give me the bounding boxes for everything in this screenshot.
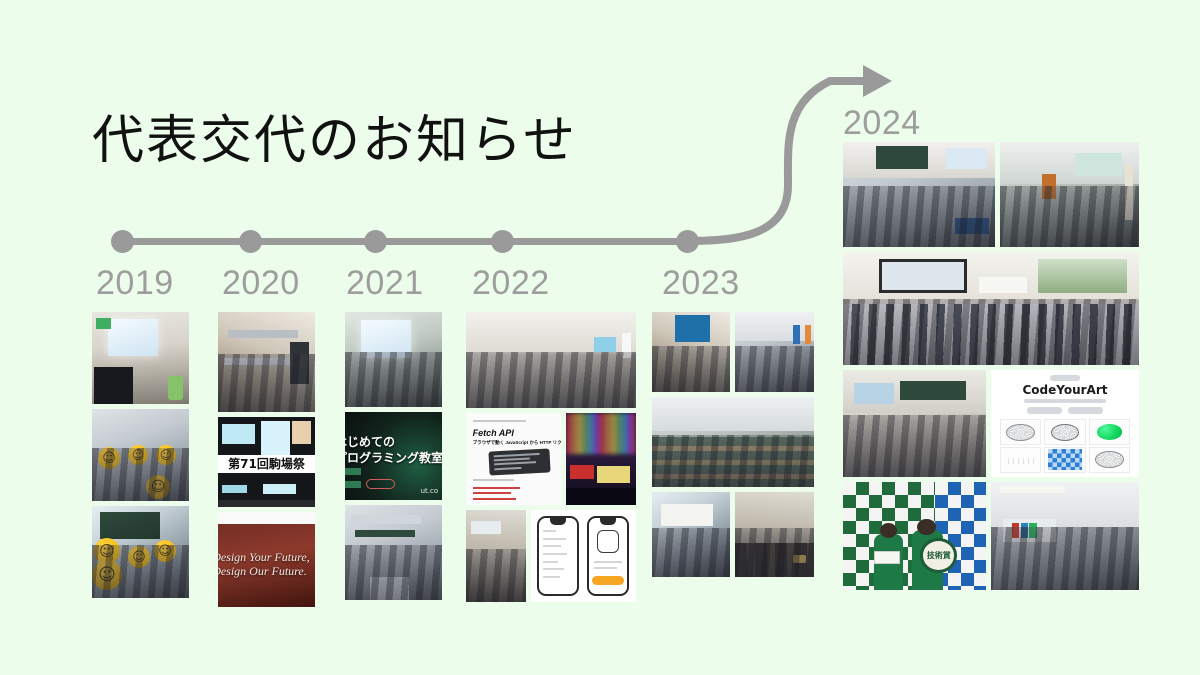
- science-classroom-photo[interactable]: [1000, 142, 1139, 247]
- emoji-sticker: ☺: [98, 447, 120, 469]
- photo-block-2024: CodeYourArt 技術賞: [843, 142, 1139, 598]
- course-banner-line2: プログラミング教室: [345, 449, 442, 466]
- article-title: Fetch API: [473, 428, 514, 438]
- mentoring-photo[interactable]: [652, 312, 730, 392]
- university-classroom-photo[interactable]: [843, 370, 986, 477]
- award-round-sign: 技術賞: [920, 538, 957, 573]
- emoji-sticker: ☺: [94, 538, 120, 564]
- online-event-slide[interactable]: 第71回駒場祭: [218, 417, 315, 507]
- cya-button-create[interactable]: [1027, 407, 1063, 413]
- cya-title: CodeYourArt: [991, 383, 1139, 397]
- phone-mockup-list: [537, 516, 579, 596]
- art-thumb-mandala-1[interactable]: [1000, 419, 1041, 445]
- large-lecture-hall-photo[interactable]: [466, 312, 636, 408]
- emoji-sticker: ☺: [146, 475, 170, 499]
- timeline-year-2024: 2024: [843, 104, 921, 143]
- lecture-theatre-photo[interactable]: [652, 397, 814, 487]
- mobile-app-mockup[interactable]: [531, 510, 636, 602]
- school-class-hands-up-photo[interactable]: [843, 252, 1139, 365]
- site-navbar: [218, 512, 315, 524]
- phone-cta-button[interactable]: [592, 576, 623, 585]
- art-thumb-green-circle[interactable]: [1089, 419, 1130, 445]
- lecture-hall-laptops-photo[interactable]: [843, 142, 995, 247]
- art-thumb-wave[interactable]: [1000, 447, 1041, 473]
- yellow-banner: [597, 466, 631, 483]
- timeline-line: [122, 238, 688, 245]
- timeline-dot-2022[interactable]: [491, 230, 514, 253]
- cya-button-gallery[interactable]: [1068, 407, 1104, 413]
- codeyourart-gallery-screenshot[interactable]: CodeYourArt: [991, 370, 1139, 477]
- red-banner: [570, 465, 594, 480]
- cya-subtitle: [1024, 399, 1107, 403]
- hero-tagline-2: Design Our Future.: [218, 564, 315, 579]
- timeline-dot-2021[interactable]: [364, 230, 387, 253]
- timeline-year-2022: 2022: [472, 264, 550, 303]
- emoji-sticker: ☺: [128, 445, 148, 465]
- emoji-sticker: ☺: [128, 546, 150, 568]
- presentation-slide: 代表交代のお知らせ 2019 2020 2021 2022 2023 2024 …: [0, 0, 1200, 675]
- lecture-hall-photo[interactable]: [345, 505, 442, 600]
- phone-mockup-onboarding: [587, 516, 629, 596]
- event-name-band: 第71回駒場祭: [218, 455, 315, 473]
- study-session-photo[interactable]: [345, 312, 442, 407]
- demo-classroom-photo[interactable]: [991, 482, 1139, 590]
- hero-tagline: Design Your Future,: [218, 550, 315, 565]
- art-thumb-mandala-3[interactable]: [1089, 447, 1130, 473]
- stage-lights: [566, 413, 636, 454]
- award-ceremony-stage-photo[interactable]: [566, 413, 636, 505]
- art-thumb-mandala-2[interactable]: [1044, 419, 1085, 445]
- meetup-table-photo[interactable]: [466, 510, 526, 602]
- fetch-api-article-screenshot[interactable]: Fetch API ブラウザで動く JavaScript から HTTP リクエ…: [466, 413, 561, 505]
- timeline-year-2023: 2023: [662, 264, 740, 303]
- timeline-year-2020: 2020: [222, 264, 300, 303]
- timeline-dot-2020[interactable]: [239, 230, 262, 253]
- article-subtitle: ブラウザで動く JavaScript から HTTP リクエストを実行する: [473, 440, 561, 446]
- course-banner-slide[interactable]: はじめての プログラミング教室 ut.co: [345, 412, 442, 500]
- social-dinner-photo[interactable]: [735, 492, 814, 577]
- code-snippet-card: [488, 448, 550, 475]
- group-photo[interactable]: [652, 492, 730, 577]
- art-thumb-blue-pattern[interactable]: [1044, 447, 1085, 473]
- person-right-head: [917, 519, 936, 535]
- hackathon-room-photo[interactable]: [735, 312, 814, 392]
- brand-label: ut.co: [421, 487, 439, 495]
- timeline-year-2021: 2021: [346, 264, 424, 303]
- phone-notch: [550, 518, 567, 525]
- emoji-sticker: ☺: [156, 445, 176, 465]
- classroom-entrance-photo[interactable]: [92, 312, 189, 404]
- timeline-dot-2019[interactable]: [111, 230, 134, 253]
- emoji-sticker: ☺: [154, 540, 176, 562]
- course-banner-line1: はじめての: [345, 433, 395, 450]
- timeline-year-2019: 2019: [96, 264, 174, 303]
- website-hero-screenshot[interactable]: Design Your Future, Design Our Future.: [218, 512, 315, 607]
- workshop-laptops-photo[interactable]: ☺ ☺ ☺ ☺: [92, 506, 189, 598]
- computer-lab-photo[interactable]: [218, 312, 315, 412]
- emoji-sticker: ☺: [92, 560, 122, 590]
- cya-logo: [1050, 375, 1080, 380]
- phone-notch: [600, 518, 617, 525]
- award-backdrop-photo[interactable]: 技術賞: [843, 482, 986, 590]
- seminar-room-photo[interactable]: ☺ ☺ ☺ ☺: [92, 409, 189, 501]
